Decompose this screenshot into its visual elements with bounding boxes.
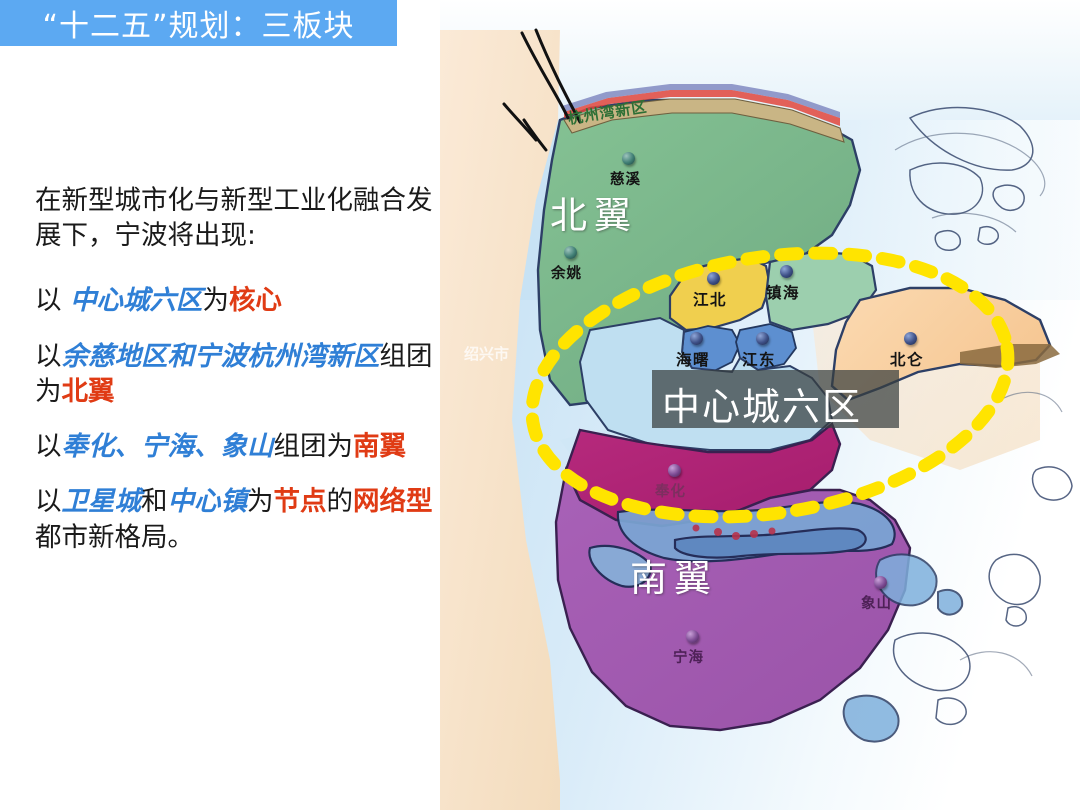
point-1-highlight-core-districts: 中心城六区 — [70, 285, 203, 316]
city-marker-beilun — [904, 332, 917, 345]
slide-title-banner: “十二五”规划：三板块 — [0, 0, 397, 46]
point-3-highlight-fenghua-ninghai-xiangshan: 奉化、宁海、象山 — [62, 431, 274, 462]
city-marker-haishu — [690, 332, 703, 345]
point-4-emphasis-network-type: 网络型 — [353, 486, 433, 517]
body-text-column: 在新型城市化与新型工业化融合发展下，宁波将出现: 以 中心城六区为核心 以余慈地… — [35, 183, 440, 575]
point-4-mid: 和 — [141, 486, 168, 517]
ningbo-plan-map: 杭州湾新区 北翼 南翼 慈溪 余姚 江北 镇海 海曙 江东 北仑 奉化 象山 宁… — [440, 0, 1080, 810]
point-2-lead: 以 — [35, 341, 62, 372]
point-4: 以卫星城和中心镇为节点的网络型都市新格局。 — [35, 484, 440, 554]
point-4-emphasis-node: 节点 — [274, 486, 327, 517]
point-4-highlight-satellite-city: 卫星城 — [62, 486, 142, 517]
city-marker-ninghai — [686, 630, 699, 643]
point-3: 以奉化、宁海、象山组团为南翼 — [35, 429, 440, 464]
point-4-tail: 都市新格局。 — [35, 522, 194, 553]
city-marker-zhenhai — [780, 265, 793, 278]
point-3-mid: 组团为 — [274, 431, 354, 462]
core-zone-label-text: 中心城六区 — [662, 376, 862, 431]
point-2: 以余慈地区和宁波杭州湾新区组团为北翼 — [35, 339, 440, 409]
city-marker-jiangdong — [756, 332, 769, 345]
point-4-mid3: 的 — [327, 486, 354, 517]
city-marker-fenghua — [668, 464, 681, 477]
point-1-mid: 为 — [202, 285, 229, 316]
intro-paragraph: 在新型城市化与新型工业化融合发展下，宁波将出现: — [35, 183, 440, 253]
point-1-emphasis-core: 核心 — [229, 285, 282, 316]
intro-text: 在新型城市化与新型工业化融合发展下，宁波将出现: — [35, 185, 433, 251]
page-title: “十二五”规划：三板块 — [42, 1, 354, 45]
point-2-emphasis-north-wing: 北翼 — [62, 376, 115, 407]
point-2-highlight-yuci-hangzhouwan: 余慈地区和宁波杭州湾新区 — [62, 341, 380, 372]
city-marker-jiangbei — [707, 272, 720, 285]
point-1: 以 中心城六区为核心 — [35, 283, 440, 318]
city-marker-yuyao — [564, 246, 577, 259]
point-3-lead: 以 — [35, 431, 62, 462]
point-4-mid2: 为 — [247, 486, 274, 517]
point-4-lead: 以 — [35, 486, 62, 517]
city-marker-xiangshan — [874, 576, 887, 589]
point-3-emphasis-south-wing: 南翼 — [353, 431, 406, 462]
point-1-lead: 以 — [35, 285, 70, 316]
point-4-highlight-central-town: 中心镇 — [168, 486, 248, 517]
city-marker-cixi — [622, 152, 635, 165]
